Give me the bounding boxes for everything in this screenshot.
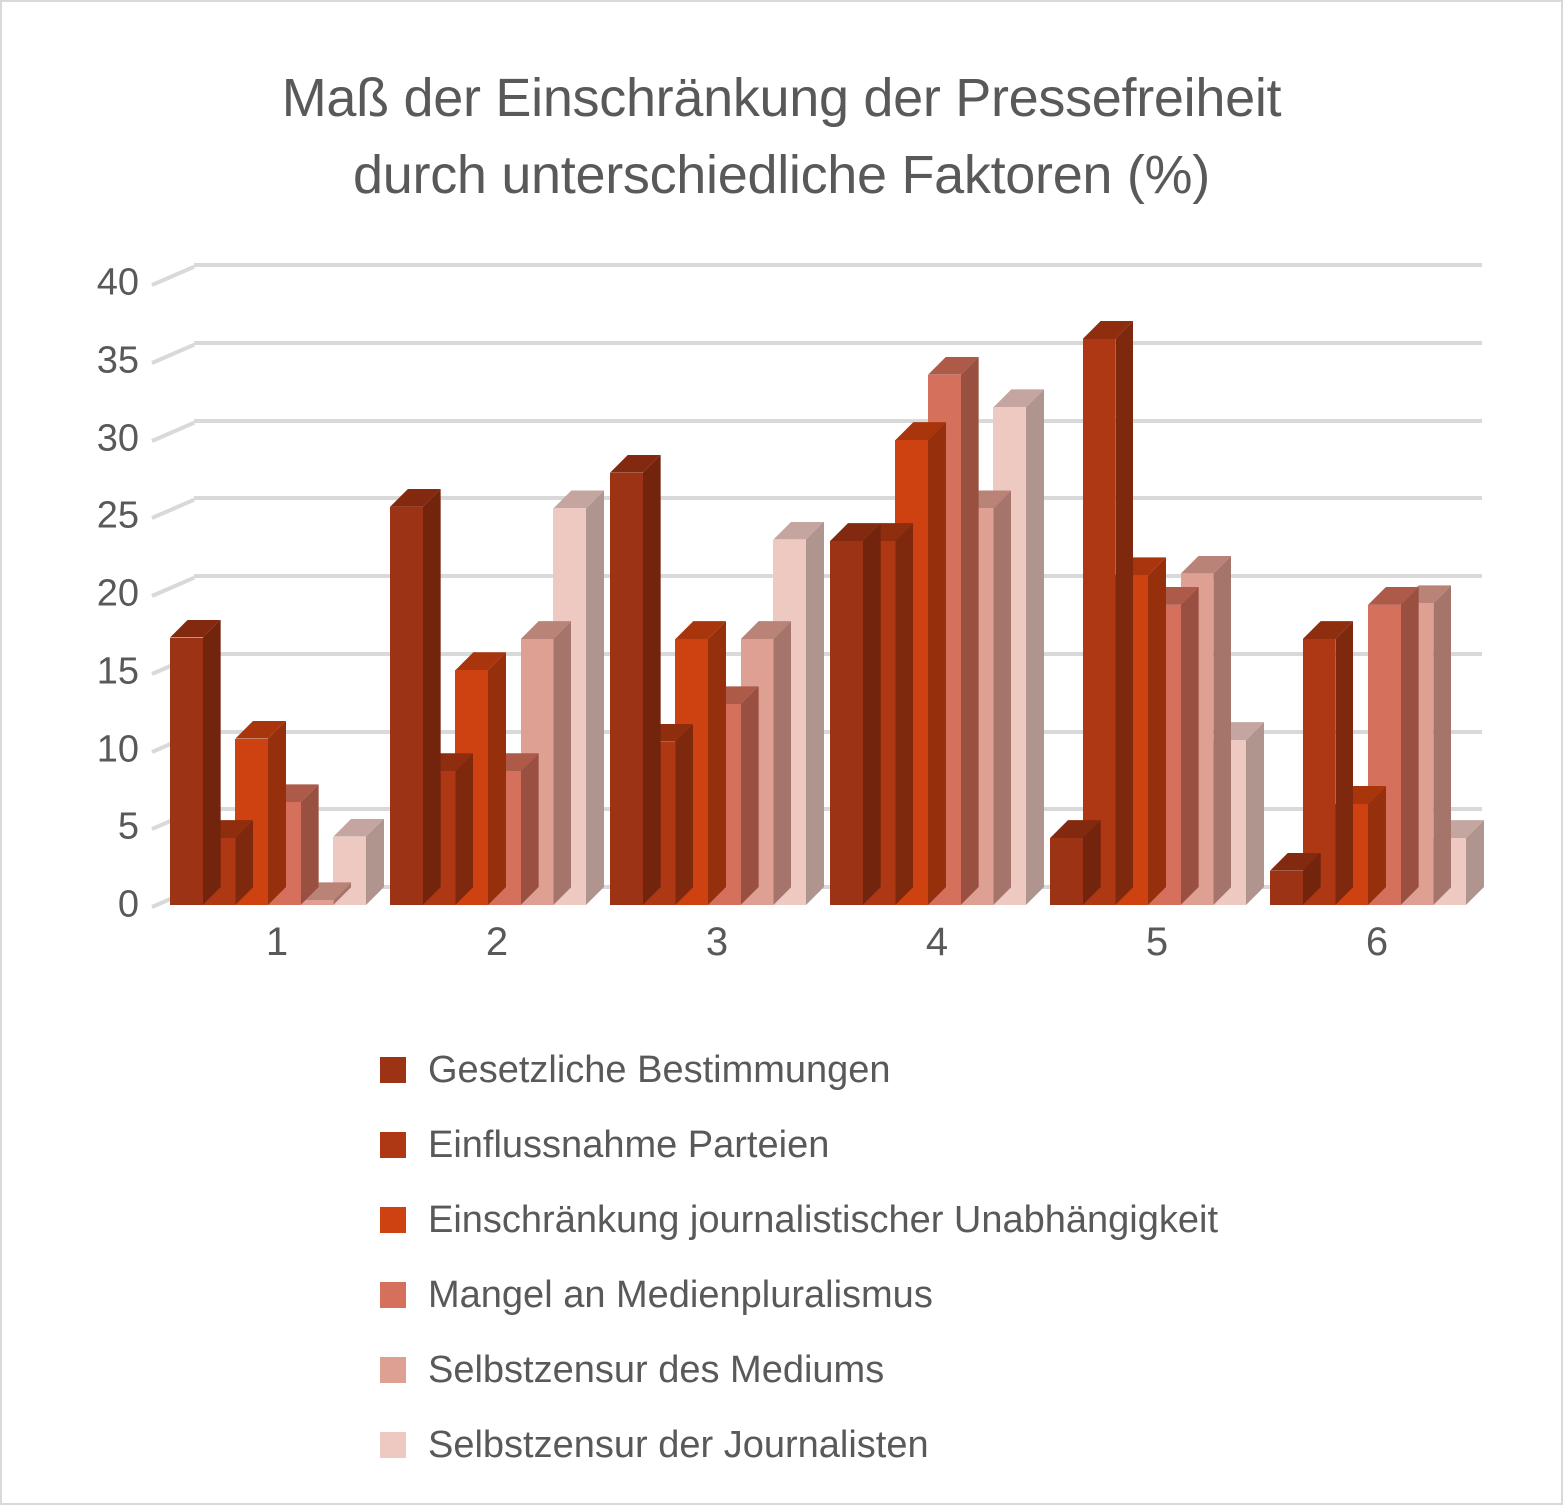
legend-label: Einschränkung journalistischer Unabhängi… [428, 1201, 1218, 1239]
legend-label: Gesetzliche Bestimmungen [428, 1051, 891, 1089]
bar-side-face [521, 753, 539, 905]
legend-label: Einflussnahme Parteien [428, 1126, 829, 1164]
bar-side-face [675, 724, 693, 905]
bar-front-face [1050, 838, 1083, 905]
y-tick-label-40: 40 [19, 262, 139, 305]
bar-5-series-1[interactable] [1050, 820, 1083, 905]
bar-front-face [390, 507, 423, 905]
legend-item-3[interactable]: Einschränkung journalistischer Unabhängi… [380, 1182, 1380, 1257]
bar-group-6 [1270, 260, 1484, 905]
chart-frame: Maß der Einschränkung der Pressefreiheit… [0, 0, 1563, 1505]
legend-swatch-icon [380, 1132, 406, 1158]
chart-legend: Gesetzliche BestimmungenEinflussnahme Pa… [380, 1032, 1380, 1482]
bar-side-face [203, 620, 221, 905]
bar-group-1 [170, 260, 384, 905]
bar-side-face [643, 455, 661, 905]
bar-side-face [455, 753, 473, 905]
bar-1-series-1[interactable] [170, 620, 203, 905]
legend-item-5[interactable]: Selbstzensur des Mediums [380, 1332, 1380, 1407]
chart-title-line1: Maß der Einschränkung der Pressefreiheit [282, 68, 1281, 128]
x-tick-label-5: 5 [1097, 920, 1217, 965]
bar-side-face [1181, 587, 1199, 905]
bar-front-face [301, 900, 334, 905]
bar-side-face [553, 621, 571, 905]
bar-front-face [1270, 871, 1303, 905]
bar-side-face [301, 784, 319, 905]
x-tick-label-2: 2 [437, 920, 557, 965]
x-tick-label-1: 1 [217, 920, 337, 965]
bar-3-series-1[interactable] [610, 455, 643, 905]
bar-side-face [1246, 722, 1264, 905]
bar-side-face [895, 523, 913, 905]
bar-side-face [1335, 621, 1353, 905]
bar-series-container [152, 260, 1482, 905]
bar-5-series-2[interactable] [1083, 321, 1116, 905]
x-tick-label-6: 6 [1317, 920, 1437, 965]
bar-side-face [488, 652, 506, 905]
bar-front-face [830, 541, 863, 905]
bar-side-face [586, 490, 604, 905]
y-tick-label-25: 25 [19, 495, 139, 538]
bar-side-face [268, 721, 286, 905]
x-tick-label-3: 3 [657, 920, 777, 965]
legend-swatch-icon [380, 1432, 406, 1458]
bar-side-face [928, 422, 946, 905]
bar-group-5 [1050, 260, 1264, 905]
legend-swatch-icon [380, 1207, 406, 1233]
bar-front-face [1083, 339, 1116, 905]
bar-group-4 [830, 260, 1044, 905]
y-tick-label-5: 5 [19, 806, 139, 849]
bar-side-face [708, 621, 726, 905]
bar-4-series-1[interactable] [830, 523, 863, 905]
legend-item-2[interactable]: Einflussnahme Parteien [380, 1107, 1380, 1182]
y-tick-label-0: 0 [19, 884, 139, 927]
bar-side-face [423, 489, 441, 905]
bar-side-face [961, 357, 979, 905]
bar-side-face [773, 621, 791, 905]
bar-side-face [1213, 556, 1231, 905]
bar-side-face [1433, 585, 1451, 905]
plot-area: 4035302520151050 123456 [152, 260, 1482, 905]
bar-side-face [1401, 587, 1419, 905]
legend-label: Mangel an Medienpluralismus [428, 1276, 933, 1314]
legend-item-1[interactable]: Gesetzliche Bestimmungen [380, 1032, 1380, 1107]
y-tick-label-35: 35 [19, 339, 139, 382]
bar-group-2 [390, 260, 604, 905]
legend-label: Selbstzensur der Journalisten [428, 1426, 929, 1464]
bar-side-face [863, 523, 881, 905]
y-tick-label-20: 20 [19, 573, 139, 616]
bar-group-3 [610, 260, 824, 905]
bar-front-face [170, 638, 203, 905]
bar-side-face [806, 522, 824, 905]
legend-item-6[interactable]: Selbstzensur der Journalisten [380, 1407, 1380, 1482]
legend-swatch-icon [380, 1282, 406, 1308]
bar-side-face [1115, 321, 1133, 905]
legend-label: Selbstzensur des Mediums [428, 1351, 884, 1389]
legend-item-4[interactable]: Mangel an Medienpluralismus [380, 1257, 1380, 1332]
bar-side-face [1026, 389, 1044, 905]
bar-2-series-1[interactable] [390, 489, 423, 905]
bar-side-face [1368, 786, 1386, 905]
legend-swatch-icon [380, 1057, 406, 1083]
chart-title: Maß der Einschränkung der Pressefreiheit… [2, 60, 1561, 213]
bar-side-face [1148, 557, 1166, 905]
y-tick-label-15: 15 [19, 650, 139, 693]
x-tick-label-4: 4 [877, 920, 997, 965]
legend-swatch-icon [380, 1357, 406, 1383]
chart-title-line2: durch unterschiedliche Faktoren (%) [2, 137, 1561, 214]
y-tick-label-10: 10 [19, 728, 139, 771]
bar-side-face [993, 490, 1011, 905]
bar-front-face [610, 473, 643, 905]
bar-6-series-1[interactable] [1270, 853, 1303, 905]
bar-side-face [741, 686, 759, 905]
y-tick-label-30: 30 [19, 417, 139, 460]
